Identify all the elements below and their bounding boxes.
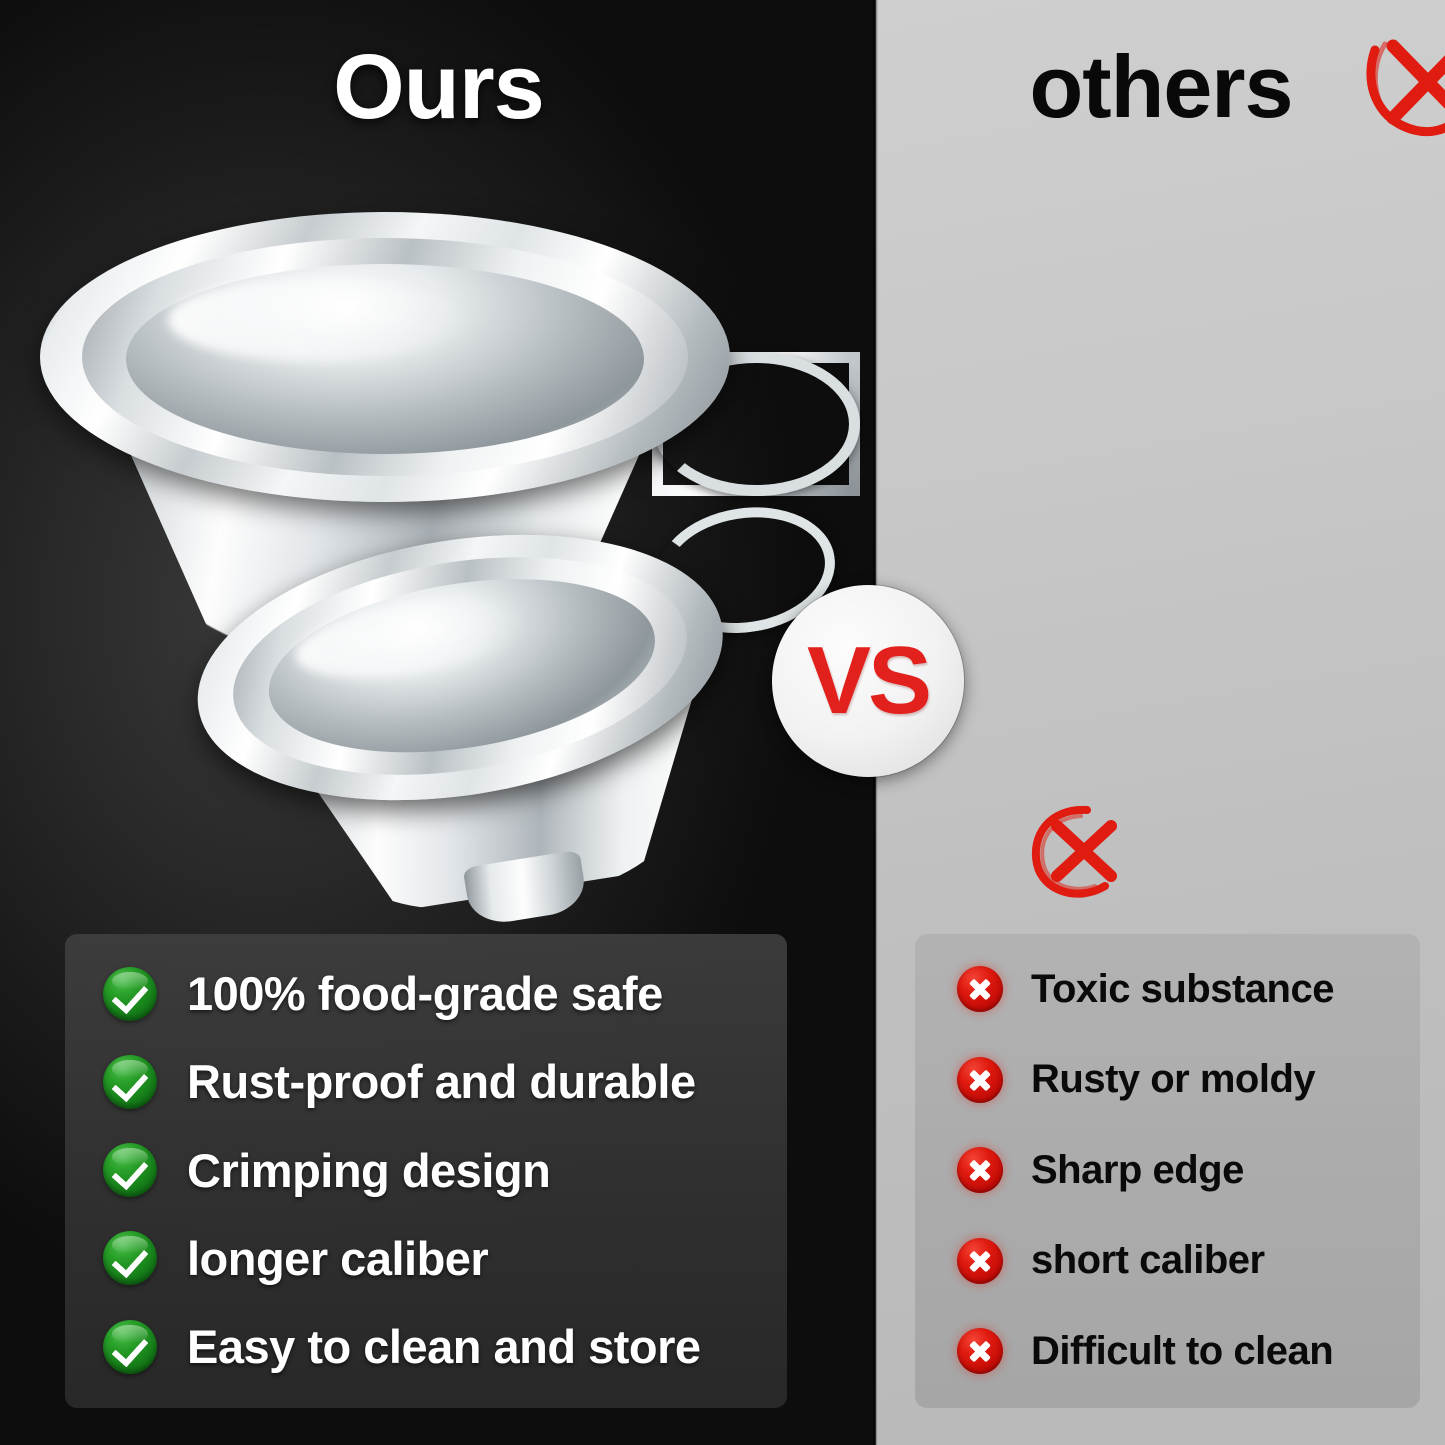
cross-circle-icon bbox=[957, 1328, 1003, 1374]
check-circle-icon bbox=[103, 1143, 157, 1197]
feature-label: Easy to clean and store bbox=[187, 1319, 701, 1374]
cross-circle-icon bbox=[957, 1147, 1003, 1193]
others-feature-list: Toxic substance Rusty or moldy Sharp edg… bbox=[915, 934, 1420, 1408]
cross-circle-icon bbox=[957, 1238, 1003, 1284]
list-item: Toxic substance bbox=[915, 966, 1420, 1012]
feature-label: longer caliber bbox=[187, 1231, 488, 1286]
list-item: Sharp edge bbox=[915, 1147, 1420, 1193]
comparison-infographic: Ours others VS 100% food-grade safe Rust… bbox=[0, 0, 1445, 1445]
red-x-stamp-top bbox=[1359, 26, 1445, 146]
cross-circle-icon bbox=[957, 1057, 1003, 1103]
feature-label: Toxic substance bbox=[1031, 967, 1334, 1012]
list-item: longer caliber bbox=[65, 1231, 787, 1286]
feature-label: Sharp edge bbox=[1031, 1148, 1244, 1193]
feature-label: Rust-proof and durable bbox=[187, 1054, 696, 1109]
ours-title: Ours bbox=[0, 35, 877, 140]
feature-label: Difficult to clean bbox=[1031, 1329, 1333, 1374]
cross-circle-icon bbox=[957, 966, 1003, 1012]
feature-label: short caliber bbox=[1031, 1238, 1265, 1283]
others-feature-box: Toxic substance Rusty or moldy Sharp edg… bbox=[915, 934, 1420, 1408]
list-item: Difficult to clean bbox=[915, 1328, 1420, 1374]
red-x-stamp-bottom bbox=[1027, 800, 1137, 904]
feature-label: 100% food-grade safe bbox=[187, 966, 663, 1021]
vs-label: VS bbox=[807, 633, 929, 729]
list-item: short caliber bbox=[915, 1238, 1420, 1284]
list-item: Rust-proof and durable bbox=[65, 1054, 787, 1109]
list-item: 100% food-grade safe bbox=[65, 966, 787, 1021]
list-item: Rusty or moldy bbox=[915, 1057, 1420, 1103]
vs-badge: VS bbox=[772, 585, 964, 777]
check-circle-icon bbox=[103, 1231, 157, 1285]
feature-label: Rusty or moldy bbox=[1031, 1057, 1315, 1102]
check-circle-icon bbox=[103, 1055, 157, 1109]
feature-label: Crimping design bbox=[187, 1143, 550, 1198]
ours-feature-list: 100% food-grade safe Rust-proof and dura… bbox=[65, 934, 787, 1408]
list-item: Crimping design bbox=[65, 1143, 787, 1198]
funnel-highlight bbox=[168, 278, 468, 362]
ours-feature-box: 100% food-grade safe Rust-proof and dura… bbox=[65, 934, 787, 1408]
check-circle-icon bbox=[103, 967, 157, 1021]
check-circle-icon bbox=[103, 1320, 157, 1374]
list-item: Easy to clean and store bbox=[65, 1319, 787, 1374]
